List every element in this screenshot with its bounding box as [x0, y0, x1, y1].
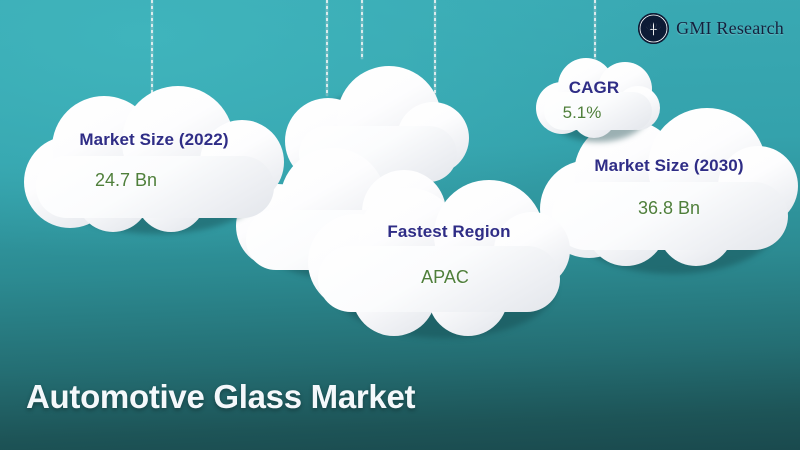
card-fastest-region[interactable]: Fastest Region APAC [308, 180, 570, 340]
brand-name: GMI Research [676, 18, 784, 39]
brand-logo[interactable]: GMI Research [638, 13, 784, 44]
infographic-canvas: Market Size (2022) 24.7 Bn Market Size (… [0, 0, 800, 450]
card-market-size-2022[interactable]: Market Size (2022) 24.7 Bn [24, 86, 284, 236]
hanging-string-3 [361, 0, 363, 59]
card-cagr[interactable]: CAGR 5.1% [536, 56, 660, 146]
gmi-palm-emblem-icon [638, 13, 669, 44]
page-title: Automotive Glass Market [26, 378, 415, 416]
